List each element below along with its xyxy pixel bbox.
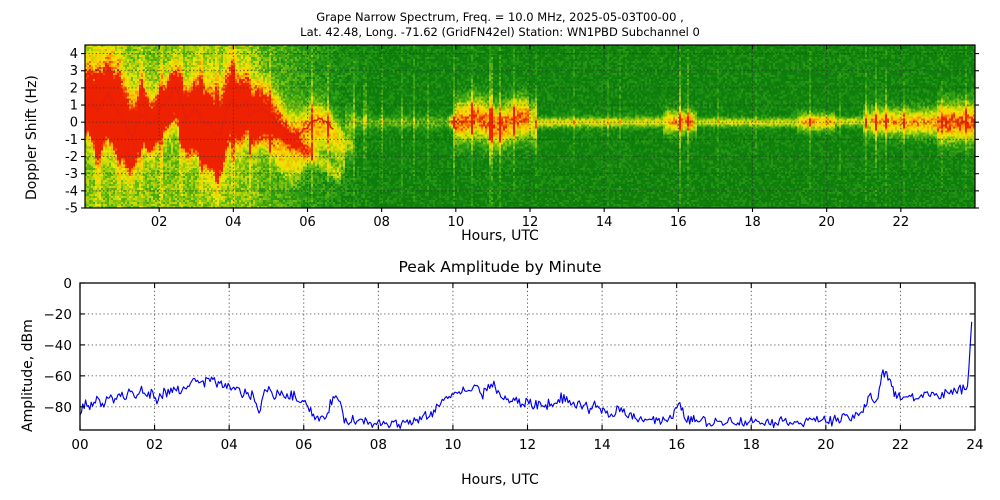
spectrogram-svg: 020406081012141618202243210-1-2-3-4-5 [0,38,1000,253]
spectrogram-ytick: -2 [65,150,78,165]
amplitude-svg: 000204060810121416182022240−20−40−60−80 [0,275,1000,465]
amplitude-xtick: 08 [370,437,387,453]
amplitude-xtick: 04 [221,437,238,453]
amplitude-ytick: −40 [44,338,73,354]
amplitude-xtick: 16 [668,437,685,453]
amplitude-plot-title: Peak Amplitude by Minute [0,258,1000,276]
spectrogram-ytick: -5 [65,202,78,217]
amplitude-xtick: 18 [743,437,760,453]
amplitude-panel: 000204060810121416182022240−20−40−60−80 [0,275,1000,465]
amplitude-xtick: 22 [892,437,909,453]
amplitude-x-axis-label: Hours, UTC [0,472,1000,488]
spectrogram-ytick: -3 [65,167,78,182]
spectrogram-y-axis-label: Doppler Shift (Hz) [24,75,40,200]
amplitude-xtick: 02 [146,437,163,453]
amplitude-ytick: −20 [44,307,73,323]
spectrogram-ytick: 2 [70,81,78,96]
spectrogram-ytick: 3 [70,64,78,79]
suptitle-line-1: Grape Narrow Spectrum, Freq. = 10.0 MHz,… [0,10,1000,25]
spectrogram-ytick: 0 [70,116,78,131]
amplitude-xtick: 20 [817,437,834,453]
amplitude-xtick: 06 [295,437,312,453]
figure-root: Grape Narrow Spectrum, Freq. = 10.0 MHz,… [0,0,1000,500]
figure-suptitle: Grape Narrow Spectrum, Freq. = 10.0 MHz,… [0,10,1000,40]
amplitude-xtick: 24 [966,437,983,453]
spectrogram-ytick: 1 [70,99,78,114]
amplitude-ytick: 0 [63,276,72,292]
amplitude-ytick: −60 [44,369,73,385]
amplitude-y-axis-label: Amplitude, dBm [20,319,36,432]
spectrogram-ytick: 4 [70,47,78,62]
amplitude-xtick: 00 [71,437,88,453]
amplitude-xtick: 12 [519,437,536,453]
amplitude-xtick: 10 [444,437,461,453]
amplitude-ytick: −80 [44,400,73,416]
amplitude-xtick: 14 [593,437,610,453]
spectrogram-ytick: -1 [65,133,78,148]
spectrogram-x-axis-label: Hours, UTC [0,228,1000,244]
spectrogram-ytick: -4 [65,184,78,199]
spectrogram-panel: 020406081012141618202243210-1-2-3-4-5 [0,38,1000,253]
